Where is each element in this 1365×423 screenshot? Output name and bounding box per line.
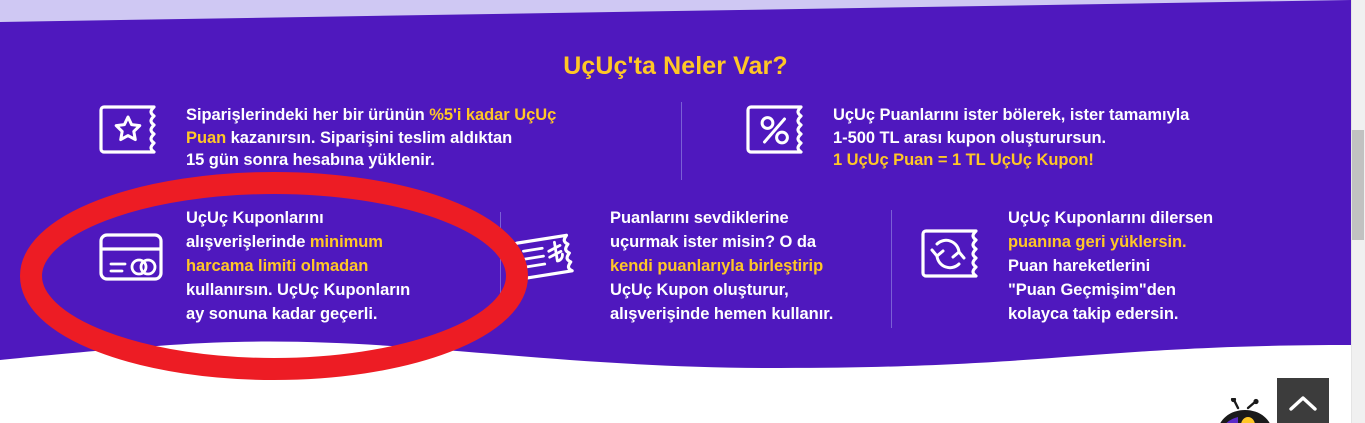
column-divider-bottom-left [500, 212, 501, 324]
feature-line: UçUç Kupon oluşturur, [610, 278, 833, 302]
feature-line: 15 gün sonra hesabına yüklenir. [186, 149, 556, 172]
chevron-up-icon [1288, 394, 1318, 414]
body-text: Siparişlerindeki her bir ürünün [186, 106, 429, 124]
feature-text-kupon: UçUç Puanlarını ister bölerek, ister tam… [833, 104, 1189, 172]
feature-text-puan: Siparişlerindeki her bir ürünün %5'i kad… [186, 104, 556, 172]
scrollbar-thumb[interactable] [1352, 130, 1364, 240]
body-text: ay sonuna kadar geçerli. [186, 305, 377, 323]
body-text: UçUç Kuponlarını [186, 209, 324, 227]
scroll-to-top-button[interactable] [1277, 378, 1329, 423]
feature-line: "Puan Geçmişim"den [1008, 278, 1213, 302]
body-text: kolayca takip edersin. [1008, 305, 1178, 323]
feature-line: alışverişlerinde minimum [186, 230, 410, 254]
feature-line: UçUç Kuponlarını dilersen [1008, 206, 1213, 230]
bee-mascot[interactable] [1214, 398, 1276, 423]
column-divider-bottom-right [891, 210, 892, 328]
body-text: kullanırsın. UçUç Kuponların [186, 281, 410, 299]
feature-item-limit: UçUç Kuponlarınıalışverişlerinde minimum… [98, 206, 498, 326]
feature-line: UçUç Kuponlarını [186, 206, 410, 230]
feature-line: 1-500 TL arası kupon oluşturursun. [833, 127, 1189, 150]
content-area: UçUç'ta Neler Var? Siparişlerindeki her … [0, 0, 1351, 400]
body-text: alışverişlerinde [186, 233, 310, 251]
vertical-scrollbar[interactable] [1351, 0, 1365, 423]
feature-line: kendi puanlarıyla birleştirip [610, 254, 833, 278]
highlighted-text: %5'i kadar UçUç [429, 106, 556, 124]
highlighted-text: puanına geri yüklersin. [1008, 233, 1187, 251]
ticket-lira-icon [512, 228, 590, 295]
column-divider-top [681, 102, 682, 180]
highlighted-text: 1 UçUç Puan = 1 TL UçUç Kupon! [833, 151, 1094, 169]
feature-line: Puanlarını sevdiklerine [610, 206, 833, 230]
feature-item-kupon: UçUç Puanlarını ister bölerek, ister tam… [745, 104, 1290, 172]
feature-line: kolayca takip edersin. [1008, 302, 1213, 326]
ticket-percent-icon [745, 104, 817, 163]
highlighted-text: harcama limiti olmadan [186, 257, 368, 275]
body-text: UçUç Kuponlarını dilersen [1008, 209, 1213, 227]
feature-line: harcama limiti olmadan [186, 254, 410, 278]
feature-line: Puan kazanırsın. Siparişini teslim aldık… [186, 127, 556, 150]
feature-item-puan: Siparişlerindeki her bir ürünün %5'i kad… [98, 104, 638, 172]
highlighted-text: Puan [186, 129, 226, 147]
feature-text-hediye: Puanlarını sevdiklerineuçurmak ister mis… [610, 206, 833, 326]
highlighted-text: kendi puanlarıyla birleştirip [610, 257, 823, 275]
body-text: alışverişinde hemen kullanır. [610, 305, 833, 323]
body-text: 15 gün sonra hesabına yüklenir. [186, 151, 435, 169]
page-root: UçUç'ta Neler Var? Siparişlerindeki her … [0, 0, 1365, 423]
feature-line: Puan hareketlerini [1008, 254, 1213, 278]
feature-text-limit: UçUç Kuponlarınıalışverişlerinde minimum… [186, 206, 410, 326]
ticket-sync-icon [920, 228, 992, 287]
body-text: UçUç Kupon oluşturur, [610, 281, 789, 299]
feature-line: alışverişinde hemen kullanır. [610, 302, 833, 326]
page-title: UçUç'ta Neler Var? [0, 52, 1351, 81]
feature-line: 1 UçUç Puan = 1 TL UçUç Kupon! [833, 149, 1189, 172]
feature-line: UçUç Puanlarını ister bölerek, ister tam… [833, 104, 1189, 127]
body-text: uçurmak ister misin? O da [610, 233, 816, 251]
feature-line: puanına geri yüklersin. [1008, 230, 1213, 254]
feature-text-geri: UçUç Kuponlarını dilersenpuanına geri yü… [1008, 206, 1213, 326]
ticket-star-icon [98, 104, 170, 163]
body-text: Puanlarını sevdiklerine [610, 209, 789, 227]
body-text: 1-500 TL arası kupon oluşturursun. [833, 129, 1106, 147]
body-text: kazanırsın. Siparişini teslim aldıktan [226, 129, 512, 147]
feature-item-geri: UçUç Kuponlarını dilersenpuanına geri yü… [920, 206, 1290, 326]
credit-card-icon [98, 232, 170, 291]
body-text: "Puan Geçmişim"den [1008, 281, 1176, 299]
feature-item-hediye: Puanlarını sevdiklerineuçurmak ister mis… [512, 206, 882, 326]
feature-line: Siparişlerindeki her bir ürünün %5'i kad… [186, 104, 556, 127]
feature-line: ay sonuna kadar geçerli. [186, 302, 410, 326]
feature-line: kullanırsın. UçUç Kuponların [186, 278, 410, 302]
body-text: Puan hareketlerini [1008, 257, 1150, 275]
feature-line: uçurmak ister misin? O da [610, 230, 833, 254]
body-text: UçUç Puanlarını ister bölerek, ister tam… [833, 106, 1189, 124]
highlighted-text: minimum [310, 233, 383, 251]
